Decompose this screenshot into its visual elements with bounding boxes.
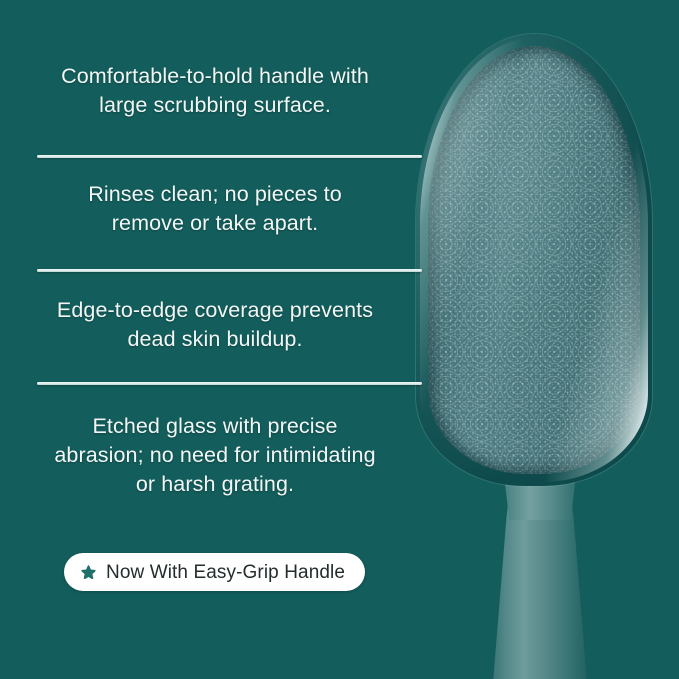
feature-item-edge-to-edge: Edge-to-edge coverage prevents dead skin… bbox=[0, 296, 430, 354]
product-abrasive-pattern bbox=[428, 46, 640, 474]
feature-line: Comfortable-to-hold handle with bbox=[0, 62, 430, 91]
feature-line: abrasion; no need for intimidating bbox=[0, 441, 430, 470]
feature-item-comfortable-handle: Comfortable-to-hold handle with large sc… bbox=[0, 62, 430, 120]
product-feature-infographic: Comfortable-to-hold handle with large sc… bbox=[0, 0, 679, 679]
product-head-rim-highlight bbox=[420, 38, 648, 482]
feature-line: remove or take apart. bbox=[0, 209, 430, 238]
product-handle-neck bbox=[476, 400, 604, 520]
feature-divider bbox=[37, 382, 422, 385]
feature-line: or harsh grating. bbox=[0, 470, 430, 499]
feature-item-rinses-clean: Rinses clean; no pieces to remove or tak… bbox=[0, 180, 430, 238]
easy-grip-badge: Now With Easy-Grip Handle bbox=[64, 553, 365, 591]
feature-divider bbox=[37, 155, 422, 158]
easy-grip-badge-label: Now With Easy-Grip Handle bbox=[106, 563, 345, 582]
product-head-body bbox=[416, 34, 652, 486]
feature-line: Edge-to-edge coverage prevents bbox=[0, 296, 430, 325]
star-icon bbox=[80, 564, 97, 581]
feature-item-etched-glass: Etched glass with precise abrasion; no n… bbox=[0, 412, 430, 499]
feature-divider bbox=[37, 269, 422, 272]
product-head-shading bbox=[428, 46, 640, 474]
product-abrasive-surface bbox=[428, 46, 640, 474]
feature-line: dead skin buildup. bbox=[0, 325, 430, 354]
product-handle-shaft bbox=[470, 430, 610, 679]
feature-line: Rinses clean; no pieces to bbox=[0, 180, 430, 209]
feature-line: large scrubbing surface. bbox=[0, 91, 430, 120]
feature-line: Etched glass with precise bbox=[0, 412, 430, 441]
